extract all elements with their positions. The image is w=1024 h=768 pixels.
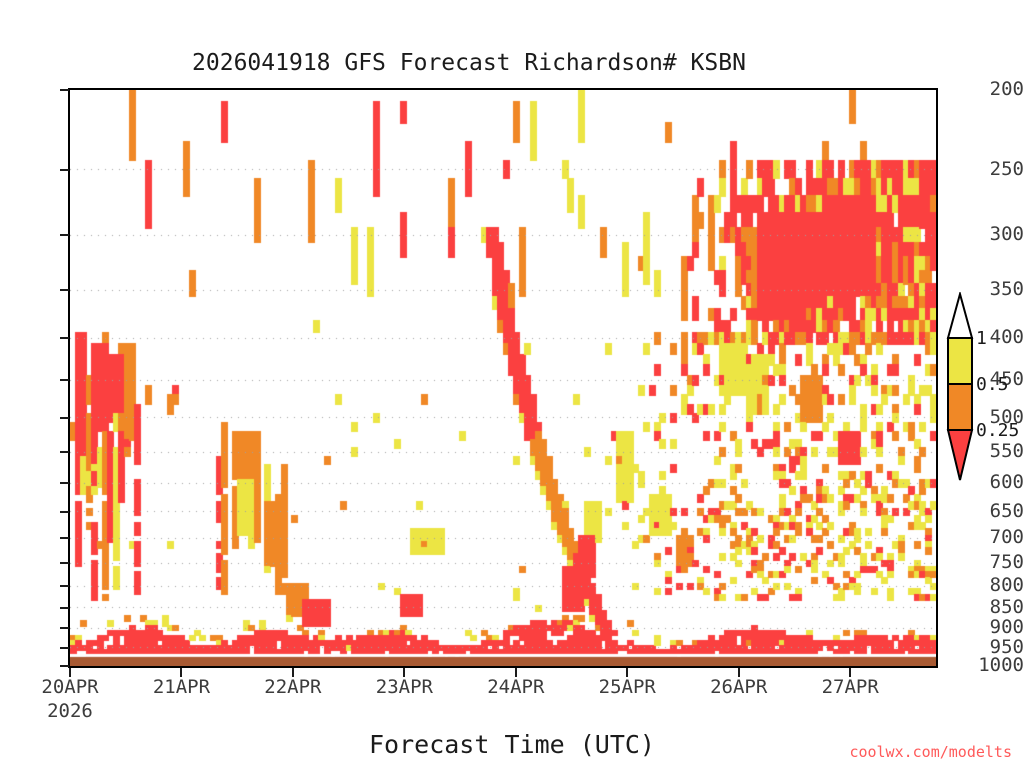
y-tick-mark-900 [60,627,69,629]
y-tick-mark-200 [60,89,69,91]
x-tick-label-25APR: 25APR [599,676,656,698]
y-tick-mark-1000 [60,665,69,667]
y-tick-mark-800 [60,585,69,587]
y-tick-mark-950 [60,647,69,649]
y-tick-mark-250 [60,169,69,171]
y-tick-label-1000: 1000 [966,656,1024,675]
y-tick-label-700: 700 [966,528,1024,547]
colorbar-label-1: 1 [976,328,987,349]
x-tick-label-26APR: 26APR [710,676,767,698]
y-tick-mark-700 [60,537,69,539]
y-tick-label-750: 750 [966,553,1024,572]
colorbar-label-0p25: 0.25 [976,420,1019,441]
y-tick-label-200: 200 [966,80,1024,99]
colorbar-legend: 1 0.5 0.25 [946,292,1024,482]
y-tick-mark-400 [60,337,69,339]
x-tick-label-21APR: 21APR [153,676,210,698]
chart-page: 2026041918 GFS Forecast Richardson# KSBN… [0,0,1024,768]
x-tick-label-24APR: 24APR [487,676,544,698]
heatmap-canvas [70,90,936,666]
y-tick-label-900: 900 [966,618,1024,637]
plot-area [68,88,938,668]
watermark-link[interactable]: coolwx.com/modelts [849,743,1012,761]
y-tick-label-850: 850 [966,598,1024,617]
x-tick-label-22APR: 22APR [264,676,321,698]
y-tick-label-300: 300 [966,225,1024,244]
colorbar-over-arrow [948,294,972,338]
y-tick-mark-650 [60,511,69,513]
x-tick-label-20APR: 20APR [41,676,98,698]
y-tick-label-650: 650 [966,502,1024,521]
colorbar-under-arrow [948,430,972,480]
y-tick-mark-350 [60,289,69,291]
y-tick-mark-300 [60,234,69,236]
chart-title: 2026041918 GFS Forecast Richardson# KSBN [0,50,938,76]
colorbar-band-orange [948,384,972,430]
y-tick-mark-600 [60,482,69,484]
colorbar-label-0p5: 0.5 [976,374,1009,395]
y-tick-mark-550 [60,451,69,453]
colorbar-band-yellow [948,338,972,384]
y-tick-mark-750 [60,562,69,564]
y-tick-mark-450 [60,379,69,381]
y-tick-mark-850 [60,607,69,609]
y-tick-label-250: 250 [966,160,1024,179]
y-tick-mark-500 [60,417,69,419]
y-tick-label-800: 800 [966,576,1024,595]
colorbar-swatches [946,292,980,482]
x-tick-label-27APR: 27APR [822,676,879,698]
x-tick-label-23APR: 23APR [376,676,433,698]
x-axis-year-label: 2026 [47,700,93,722]
